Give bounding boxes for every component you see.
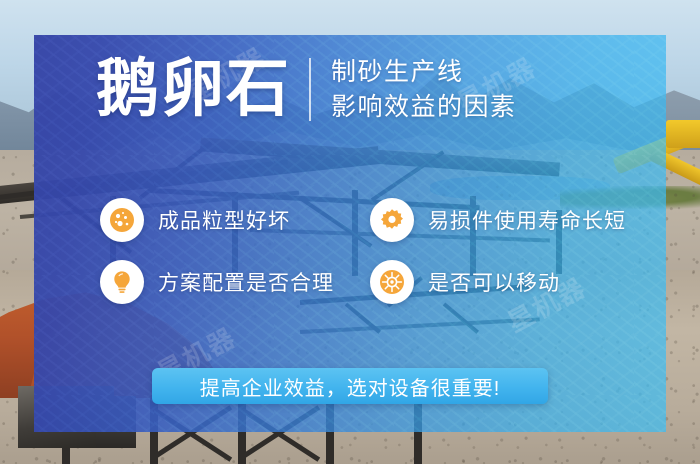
- feature-label: 方案配置是否合理: [158, 267, 334, 297]
- feature-label: 成品粒型好坏: [158, 205, 290, 235]
- promo-banner: 星机器 星机器 星机器 星机器 鹅卵石 制砂生产线 影响效益的因素: [0, 0, 700, 464]
- feature-item[interactable]: 方案配置是否合理: [100, 260, 370, 304]
- aggregate-particles-icon: [100, 198, 144, 242]
- feature-label: 是否可以移动: [428, 267, 560, 297]
- wheel-radial-icon: [370, 260, 414, 304]
- cta-label: 提高企业效益，选对设备很重要!: [200, 372, 501, 401]
- gear-icon: [370, 198, 414, 242]
- headline-block: 鹅卵石 制砂生产线 影响效益的因素: [96, 58, 517, 121]
- feature-item[interactable]: 成品粒型好坏: [100, 198, 370, 242]
- headline-subtitle-line-2: 影响效益的因素: [331, 93, 517, 121]
- feature-item[interactable]: 是否可以移动: [370, 260, 626, 304]
- headline-main-title: 鹅卵石: [96, 58, 291, 121]
- headline-subtitle-line-1: 制砂生产线: [331, 58, 517, 86]
- photo-excavator-body: [666, 120, 700, 148]
- headline-subtitle-block: 制砂生产线 影响效益的因素: [309, 58, 517, 121]
- cta-banner[interactable]: 提高企业效益，选对设备很重要!: [152, 368, 548, 404]
- feature-item[interactable]: 易损件使用寿命长短: [370, 198, 626, 242]
- lightbulb-icon: [100, 260, 144, 304]
- feature-label: 易损件使用寿命长短: [428, 205, 626, 235]
- feature-list: 成品粒型好坏 易损件使用寿命长短: [100, 198, 620, 304]
